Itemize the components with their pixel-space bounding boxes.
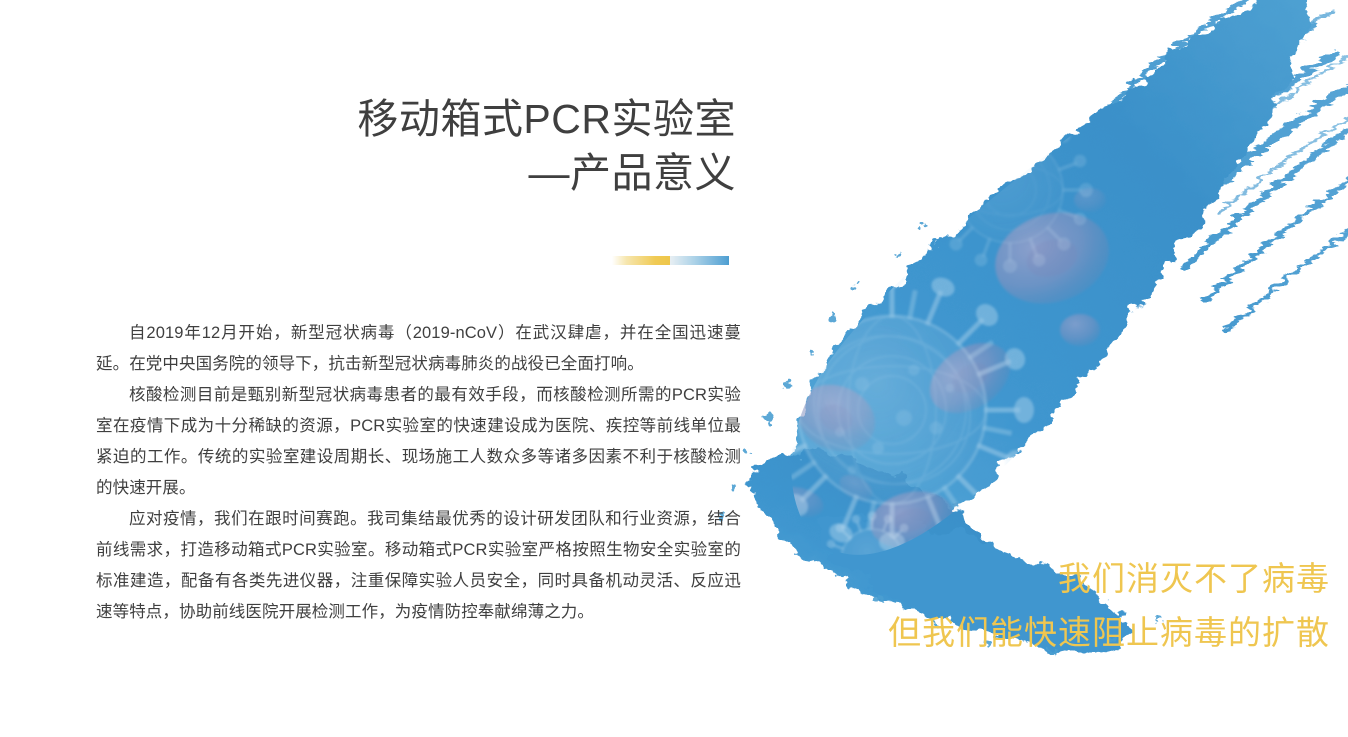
title-accent-bar: [612, 256, 729, 265]
slogan-block: 我们消灭不了病毒 但我们能快速阻止病毒的扩散: [610, 552, 1330, 660]
slide-canvas: 移动箱式PCR实验室 —产品意义 自2019年12月开始，新型冠状病毒（2019…: [0, 0, 1348, 737]
slogan-line-1: 我们消灭不了病毒: [610, 552, 1330, 606]
accent-bar-gold-segment: [612, 256, 670, 265]
brush-bristle-streaks: [1090, 0, 1348, 330]
title-line-1: 移动箱式PCR实验室: [150, 92, 736, 146]
body-paragraph-1: 自2019年12月开始，新型冠状病毒（2019-nCoV）在武汉肆虐，并在全国迅…: [96, 318, 741, 380]
title-line-2: —产品意义: [150, 146, 736, 200]
page-title: 移动箱式PCR实验室 —产品意义: [150, 92, 736, 200]
coronavirus-particle-faint: [927, 107, 1093, 273]
slogan-line-2: 但我们能快速阻止病毒的扩散: [610, 606, 1330, 660]
microscopy-contents: [749, 107, 1121, 609]
accent-bar-blue-segment: [670, 256, 729, 265]
body-paragraph-2: 核酸检测目前是甄别新型冠状病毒患者的最有效手段，而核酸检测所需的PCR实验室在疫…: [96, 380, 741, 504]
blood-cells: [773, 188, 1121, 577]
coronavirus-particle: [749, 267, 1035, 553]
